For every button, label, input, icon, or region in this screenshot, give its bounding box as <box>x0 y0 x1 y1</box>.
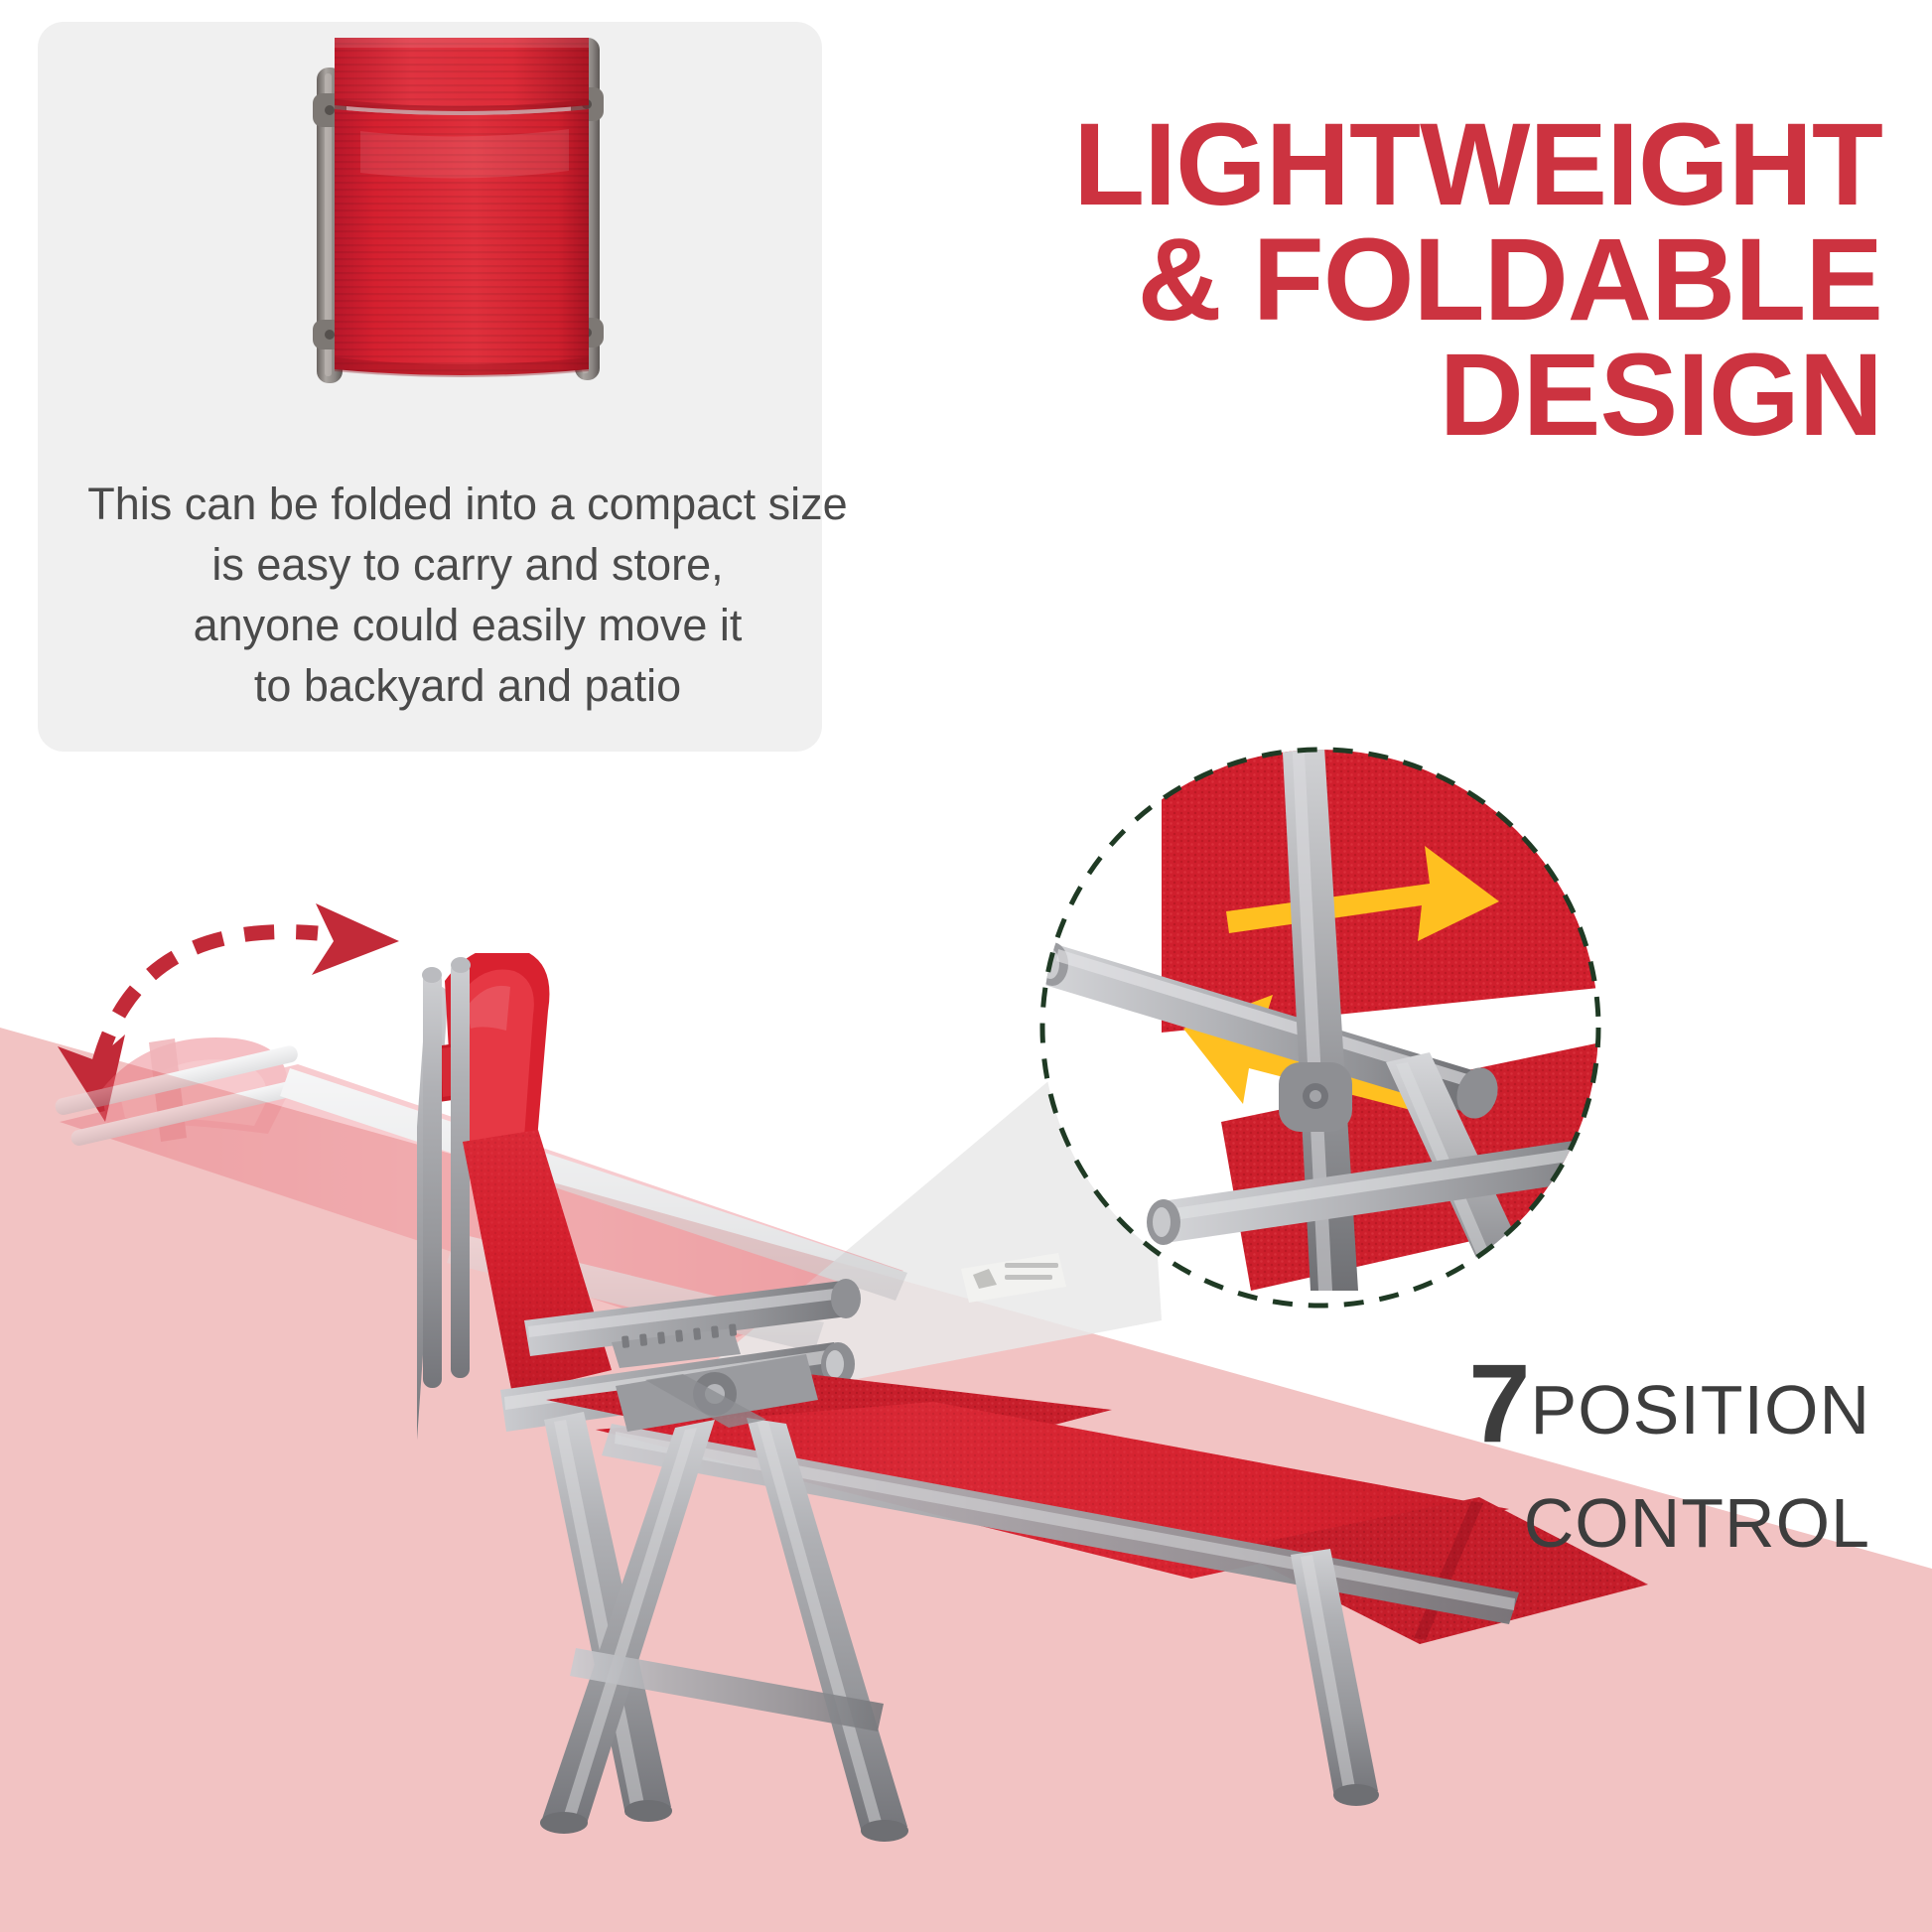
panel-paragraph-line-1: This can be folded into a compact size <box>75 474 860 534</box>
folded-chair-photo <box>291 22 678 394</box>
safety-warning-label <box>961 1253 1066 1303</box>
headline-line-3: DESIGN <box>890 338 1882 453</box>
panel-paragraph-line-2: is easy to carry and store, <box>75 534 860 595</box>
panel-paragraph: This can be folded into a compact size i… <box>75 474 860 716</box>
info-panel: This can be folded into a compact size i… <box>38 22 822 752</box>
position-word: POSITION <box>1531 1371 1870 1449</box>
position-control-block: 7POSITION CONTROL <box>1195 1358 1870 1567</box>
headline: LIGHTWEIGHT & FOLDABLE DESIGN <box>890 107 1882 453</box>
panel-paragraph-line-4: to backyard and patio <box>75 655 860 716</box>
position-count: 7 <box>1468 1341 1530 1465</box>
panel-paragraph-line-3: anyone could easily move it <box>75 595 860 655</box>
headline-line-2: & FOLDABLE <box>890 222 1882 338</box>
control-word: CONTROL <box>1195 1479 1870 1567</box>
headline-line-1: LIGHTWEIGHT <box>890 107 1882 222</box>
infographic-canvas: This can be folded into a compact size i… <box>0 0 1932 1932</box>
